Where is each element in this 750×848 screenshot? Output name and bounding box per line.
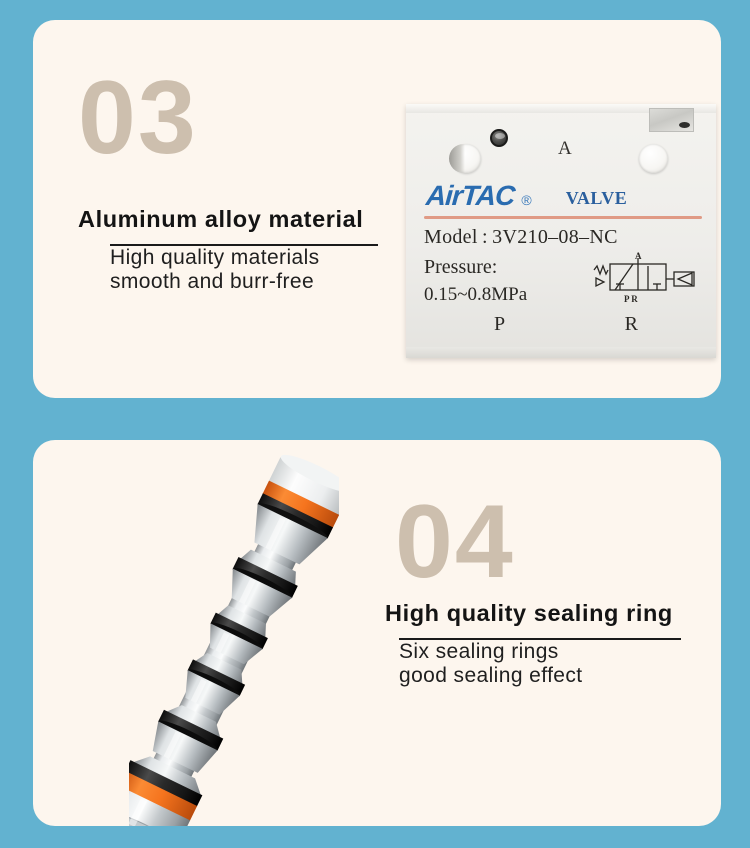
- feature-heading-03: Aluminum alloy material: [78, 206, 408, 233]
- valve-label-divider: [424, 216, 702, 219]
- feature-card-04: 04 High quality sealing ring Six sealing…: [33, 440, 721, 826]
- valve-body-image: A AirTAC ® VALVE Model : 3V210–08–NC Pre…: [406, 104, 716, 358]
- feature-subline-04-1: Six sealing rings: [399, 640, 715, 664]
- pneumatic-schematic-icon: A P R: [582, 252, 702, 308]
- feature-text-block-04: High quality sealing ring Six sealing ri…: [385, 600, 715, 688]
- valve-category-label: VALVE: [566, 188, 628, 209]
- valve-bottom-edge: [406, 347, 716, 358]
- valve-port-label-p: P: [494, 313, 505, 336]
- schematic-label-a: A: [635, 252, 642, 261]
- section-number-04: 04: [395, 490, 515, 594]
- feature-subline-03-1: High quality materials: [110, 246, 408, 270]
- valve-spool-image: [129, 440, 339, 826]
- registered-trademark-icon: ®: [521, 192, 531, 208]
- product-detail-page: 03 Aluminum alloy material High quality …: [0, 0, 750, 848]
- valve-port-label-r: R: [625, 313, 638, 336]
- feature-subline-04-2: good sealing effect: [399, 664, 715, 688]
- feature-text-block-03: Aluminum alloy material High quality mat…: [78, 206, 408, 294]
- section-number-03: 03: [78, 66, 198, 170]
- schematic-label-pr: P R: [624, 294, 638, 304]
- valve-model-text: Model : 3V210–08–NC: [424, 226, 618, 249]
- valve-metal-tab: [649, 108, 694, 132]
- feature-card-03: 03 Aluminum alloy material High quality …: [33, 20, 721, 398]
- valve-port-right: [639, 144, 668, 173]
- feature-heading-04: High quality sealing ring: [385, 600, 715, 627]
- feature-subline-03-2: smooth and burr-free: [110, 270, 408, 294]
- airtac-logo: AirTAC: [425, 182, 515, 210]
- valve-brand-row: AirTAC ® VALVE: [426, 182, 700, 210]
- valve-port-label-a: A: [558, 138, 572, 160]
- valve-screw-icon: [490, 129, 508, 147]
- valve-port-left: [452, 144, 481, 173]
